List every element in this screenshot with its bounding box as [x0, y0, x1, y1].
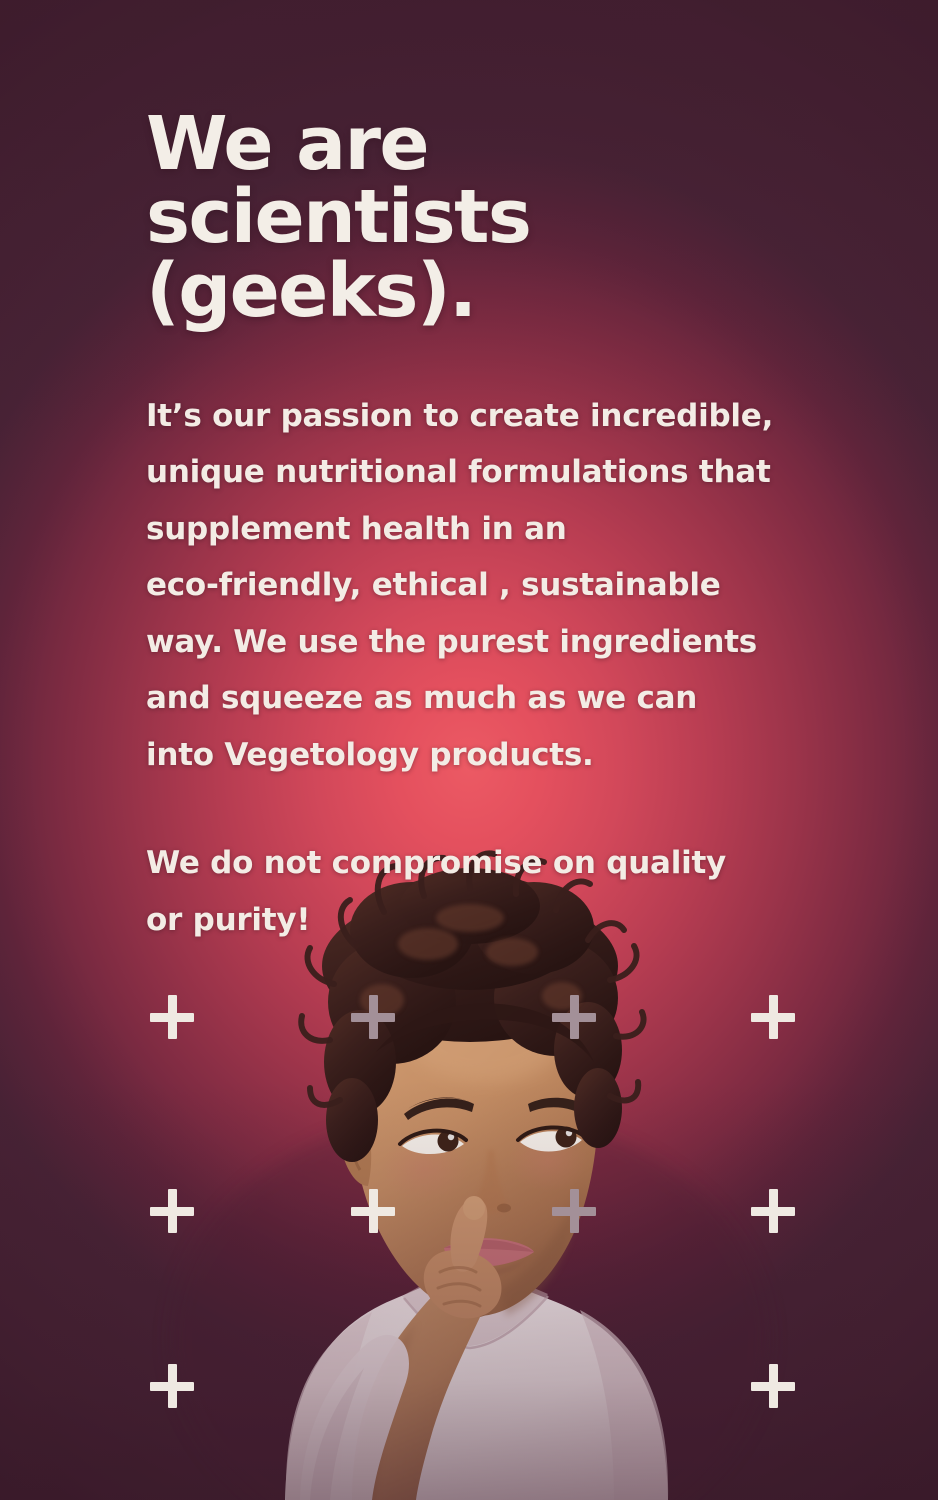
- plus-icon: [552, 1189, 596, 1233]
- poster-headline: We are scientists (geeks).: [146, 108, 818, 328]
- plus-icon: [150, 995, 194, 1039]
- plus-icon: [751, 995, 795, 1039]
- text-content-block: We are scientists (geeks). It’s our pass…: [146, 108, 818, 948]
- poster-paragraph-1: It’s our passion to create incredible, u…: [146, 328, 818, 784]
- plus-icon: [552, 995, 596, 1039]
- plus-icon: [351, 1189, 395, 1233]
- plus-icon: [751, 1364, 795, 1408]
- poster-canvas: We are scientists (geeks). It’s our pass…: [0, 0, 938, 1500]
- plus-icon: [751, 1189, 795, 1233]
- plus-icon: [351, 995, 395, 1039]
- poster-paragraph-2: We do not compromise on quality or purit…: [146, 783, 818, 948]
- plus-icon: [150, 1364, 194, 1408]
- plus-icon: [150, 1189, 194, 1233]
